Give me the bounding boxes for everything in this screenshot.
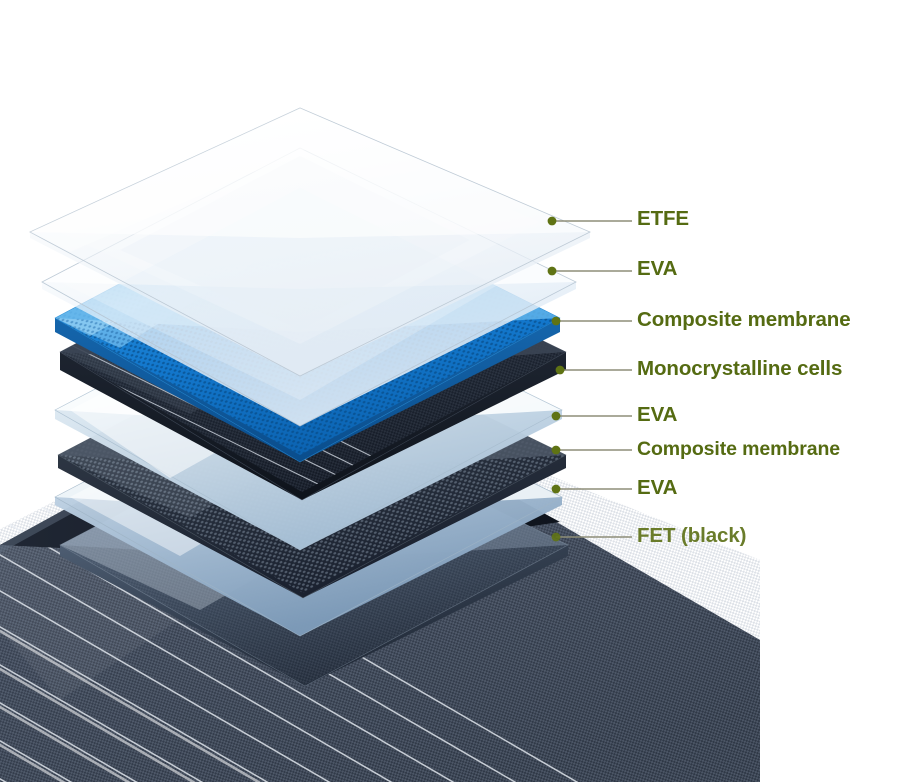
callout-dot-eva-mid: [552, 412, 561, 421]
exploded-layer-diagram: [0, 0, 900, 782]
callout-dot-fet: [552, 533, 561, 542]
label-eva-low: EVA: [637, 478, 677, 498]
callout-dot-eva-low: [552, 485, 561, 494]
callout-dot-composite-bottom: [552, 446, 561, 455]
label-eva-mid: EVA: [637, 405, 677, 425]
label-composite-membrane-bottom: Composite membrane: [637, 439, 840, 459]
label-monocrystalline-cells: Monocrystalline cells: [637, 359, 842, 379]
label-composite-membrane-top: Composite membrane: [637, 310, 851, 330]
callout-dot-eva-top: [548, 267, 557, 276]
label-etfe: ETFE: [637, 209, 689, 229]
label-eva-top: EVA: [637, 259, 677, 279]
callout-dot-etfe: [548, 217, 557, 226]
product-infographic: 23% - 25% HIGH CONVERSION EFFICIENCY: [0, 0, 900, 782]
callout-dot-cells: [556, 366, 565, 375]
callout-dot-composite-top: [552, 317, 561, 326]
label-fet-black: FET (black): [637, 526, 746, 546]
